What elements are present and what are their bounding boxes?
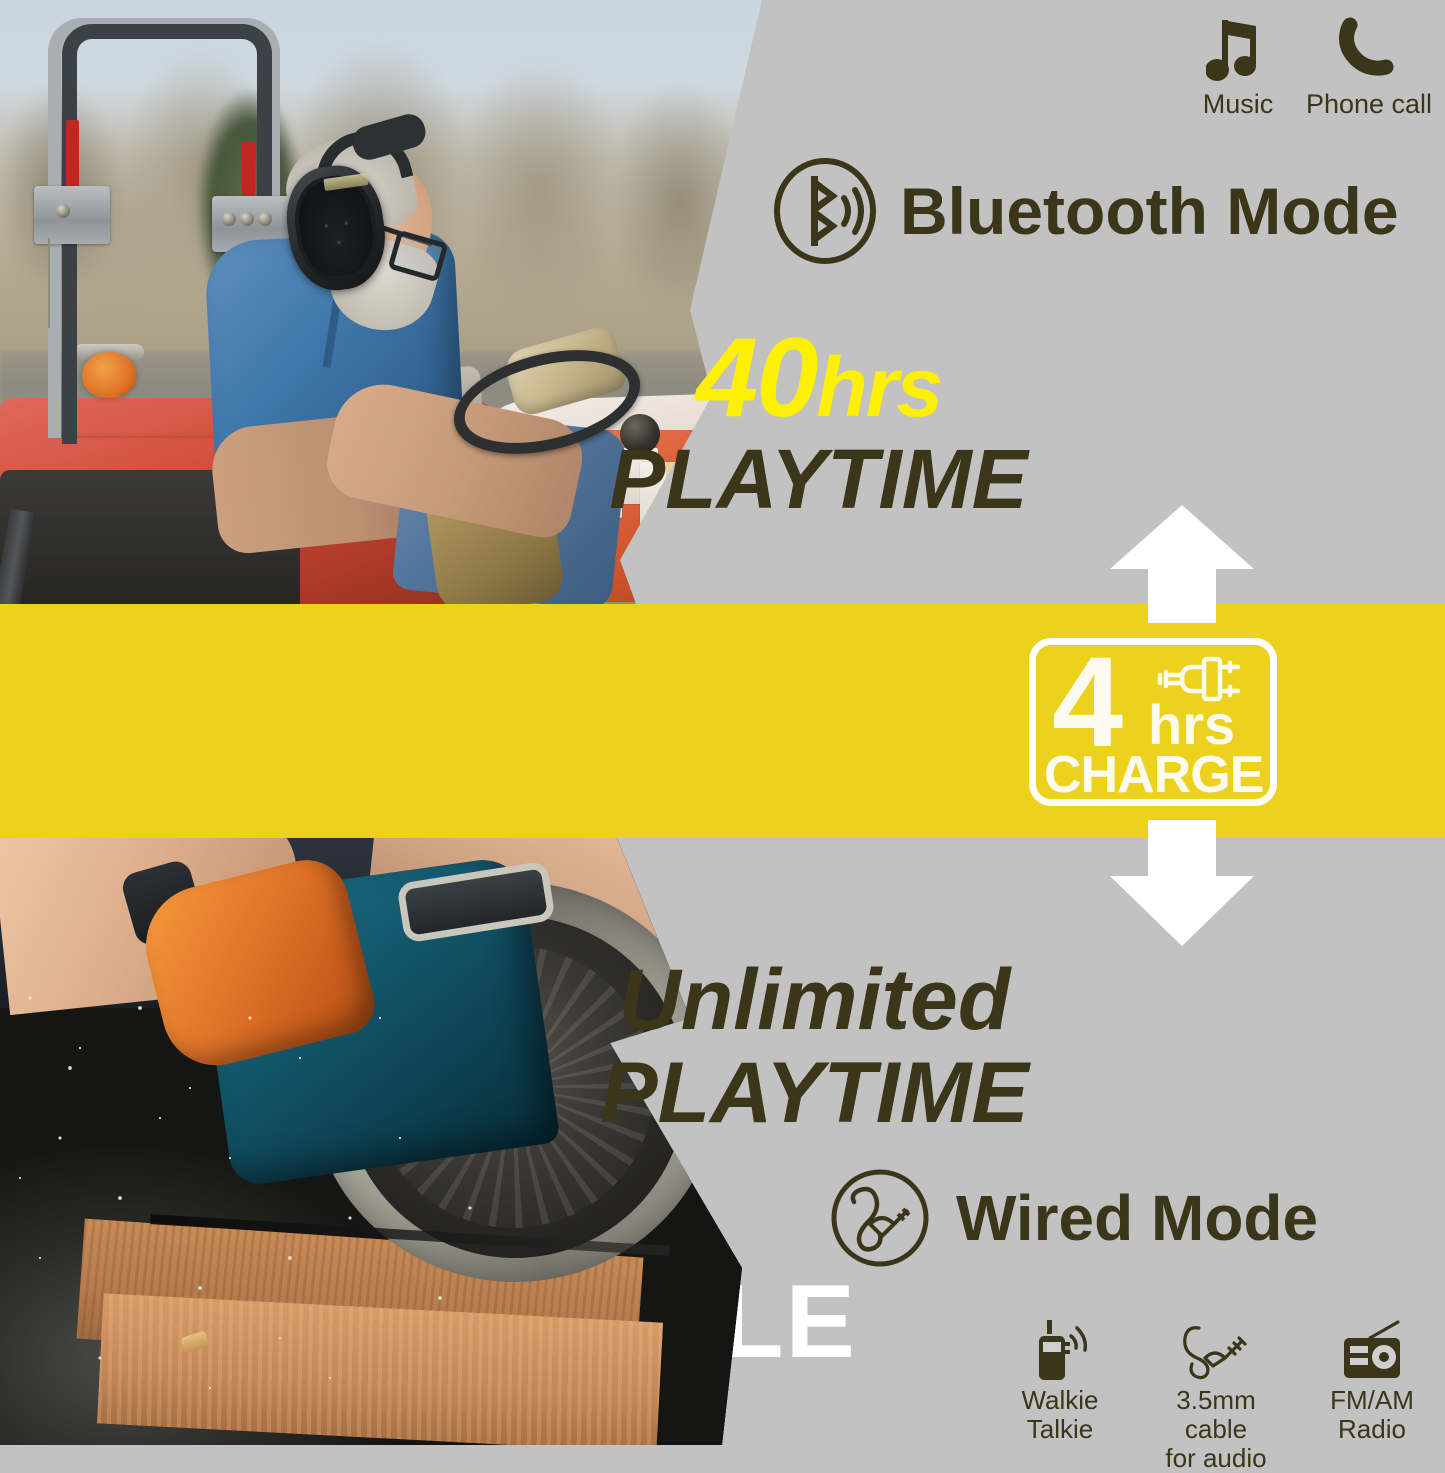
playtime-label-wired: PLAYTIME xyxy=(92,1047,1445,1140)
walkie-talkie-icon xyxy=(990,1312,1130,1382)
radio-label: FM/AMRadio xyxy=(1302,1386,1442,1444)
roll-bar-bracket-left xyxy=(34,186,110,244)
radio-icon xyxy=(1302,1312,1442,1382)
phone-call-label: Phone call xyxy=(1304,90,1434,118)
headphone-vents xyxy=(315,213,366,259)
cable xyxy=(48,238,50,328)
playtime-unit: hrs xyxy=(816,340,941,434)
feature-audio-cable: 3.5mm cablefor audio xyxy=(1146,1312,1286,1473)
playtime-value-40hrs: 40hrs xyxy=(96,322,1445,434)
wired-mode-label: Wired Mode xyxy=(956,1181,1318,1255)
wired-mode-row: Wired Mode xyxy=(830,1168,1318,1268)
music-label: Music xyxy=(1190,90,1286,118)
walkie-talkie-label: WalkieTalkie xyxy=(990,1386,1130,1444)
audio-cable-label: 3.5mm cablefor audio xyxy=(1146,1386,1286,1473)
phone-handset-icon xyxy=(1304,12,1434,90)
bluetooth-signal-icon xyxy=(772,158,878,264)
bolt xyxy=(240,212,254,226)
bluetooth-mode-label: Bluetooth Mode xyxy=(900,173,1399,249)
wired-playtime-block: Unlimited PLAYTIME xyxy=(0,954,1445,1140)
tractor-knob xyxy=(646,560,676,590)
feature-music: Music xyxy=(1190,12,1286,118)
unlimited-label: Unlimited xyxy=(92,954,1445,1047)
bluetooth-playtime-block: 40hrs PLAYTIME xyxy=(0,322,1445,525)
power-plug-icon xyxy=(1152,651,1242,707)
bolt xyxy=(258,212,272,226)
feature-walkie-talkie: WalkieTalkie xyxy=(990,1312,1130,1473)
bottom-feature-row: WalkieTalkie 3.5mm cablefor audio xyxy=(990,1312,1442,1473)
bolt xyxy=(56,204,70,218)
arrow-down-icon xyxy=(1108,820,1256,948)
product-feature-graphic: RECHARGABLE Music xyxy=(0,0,1445,1445)
playtime-number: 40 xyxy=(696,315,817,440)
feature-phone-call: Phone call xyxy=(1304,12,1434,118)
audio-cable-icon xyxy=(1146,1312,1286,1382)
charge-label: CHARGE xyxy=(1044,749,1263,801)
bluetooth-mode-row: Bluetooth Mode xyxy=(772,158,1399,264)
feature-fm-am-radio: FM/AMRadio xyxy=(1302,1312,1442,1473)
arrow-up-icon xyxy=(1108,503,1256,623)
photo-circular-saw xyxy=(0,838,800,1445)
bolt xyxy=(222,212,236,226)
charge-time-badge: 4 hrs CHARGE xyxy=(1029,638,1277,806)
audio-cable-jack-icon xyxy=(830,1168,930,1268)
music-note-icon xyxy=(1190,12,1286,90)
